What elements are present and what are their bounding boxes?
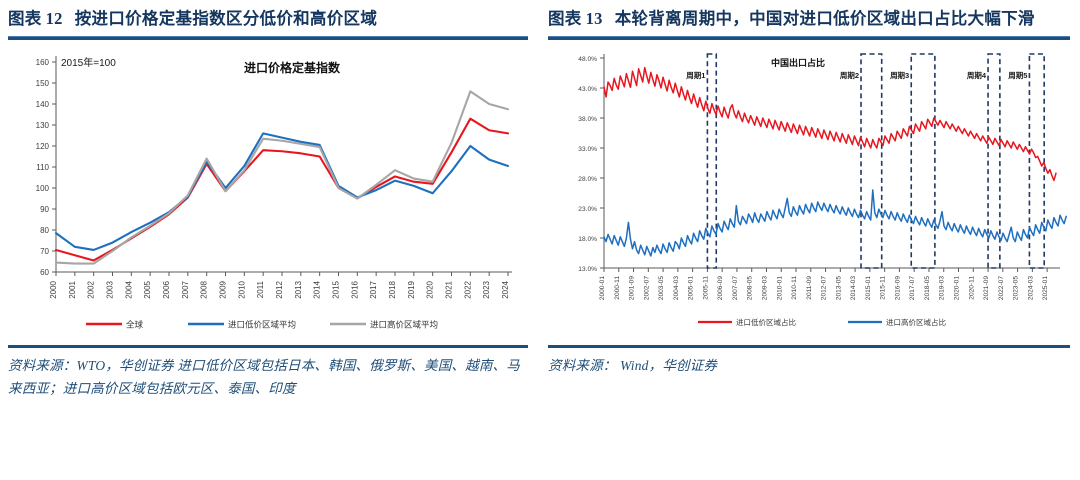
x-axis-tick-label: 2010-11: [791, 276, 798, 300]
x-axis-tick-label: 2022: [463, 280, 472, 298]
figure-13-label: 图表: [548, 9, 582, 28]
x-axis-tick-label: 2014: [313, 280, 322, 298]
y-axis-tick-label: 150: [36, 79, 50, 88]
cycle-band-3: [911, 54, 935, 268]
figure-12-label: 图表: [8, 9, 42, 28]
y-axis-tick-label: 43.0%: [578, 86, 597, 93]
x-axis-tick-label: 2008: [200, 280, 209, 298]
x-axis-tick-label: 2016: [350, 280, 359, 298]
y-axis-tick-label: 120: [36, 142, 50, 151]
y-axis-tick-label: 48.0%: [578, 56, 597, 63]
y-axis-tick-label: 140: [36, 100, 50, 109]
x-axis-tick-label: 2019: [407, 280, 416, 298]
x-axis-tick-label: 2009-03: [761, 276, 768, 301]
figure-13-source-note: 资料来源： Wind，华创证券: [548, 348, 1070, 377]
x-axis-tick-label: 2020-01: [954, 276, 961, 301]
x-axis-tick-label: 2015-01: [865, 276, 872, 301]
figure-panel-13: 图表13本轮背离周期中，中国对进口低价区域出口占比大幅下滑 13.0%18.0%…: [540, 0, 1080, 480]
cycle-label-4: 周期4: [967, 70, 987, 80]
x-axis-tick-label: 2020: [426, 280, 435, 298]
x-axis-tick-label: 2013: [294, 280, 303, 298]
y-axis-tick-label: 100: [36, 184, 50, 193]
x-axis-tick-label: 2024-03: [1027, 276, 1034, 301]
x-axis-tick-label: 2021-09: [983, 276, 990, 301]
x-axis-tick-label: 2009: [219, 280, 228, 298]
x-axis-tick-label: 2017: [369, 280, 378, 298]
x-axis-tick-label: 2025-01: [1042, 276, 1049, 301]
series-line-2: [56, 91, 508, 263]
cycle-label-3: 周期3: [890, 70, 909, 80]
x-axis-tick-label: 2018: [388, 280, 397, 298]
x-axis-tick-label: 2017-07: [909, 276, 916, 301]
cycle-band-5: [1029, 54, 1044, 268]
legend-label-0: 进口低价区域占比: [736, 317, 796, 327]
figure-12-heading: 图表12按进口价格定基指数区分低价和高价区域: [8, 0, 528, 31]
figure-12-number: 12: [46, 9, 63, 28]
x-axis-tick-label: 2006: [162, 280, 171, 298]
x-axis-tick-label: 2015: [332, 280, 341, 298]
y-axis-tick-label: 90: [40, 205, 49, 214]
x-axis-tick-label: 2006-09: [717, 276, 724, 301]
x-axis-tick-label: 2012: [275, 280, 284, 298]
cycle-label-2: 周期2: [840, 70, 859, 80]
series-line-1: [604, 190, 1066, 256]
x-axis-tick-label: 2015-11: [880, 276, 887, 300]
legend-label-1: 进口高价区域占比: [886, 317, 946, 327]
x-axis-tick-label: 2010-01: [776, 276, 783, 301]
x-axis-tick-label: 2023-05: [1013, 276, 1020, 301]
x-axis-tick-label: 2010: [237, 280, 246, 298]
x-axis-tick-label: 2005: [143, 280, 152, 298]
cycle-label-5: 周期5: [1008, 70, 1027, 80]
import-price-index-svg: 607080901001101201301401501602015年=100进口…: [8, 40, 528, 345]
legend-label-0: 全球: [126, 320, 144, 330]
x-axis-tick-label: 2016-09: [894, 276, 901, 301]
x-axis-tick-label: 2020-11: [968, 276, 975, 300]
base-year-note: 2015年=100: [61, 56, 116, 69]
x-axis-tick-label: 2013-05: [835, 276, 842, 301]
x-axis-tick-label: 2002-07: [643, 276, 650, 301]
figure-13-heading: 图表13本轮背离周期中，中国对进口低价区域出口占比大幅下滑: [548, 0, 1070, 31]
x-axis-tick-label: 2024: [501, 280, 510, 298]
x-axis-tick-label: 2004: [124, 280, 133, 298]
x-axis-tick-label: 2008-05: [747, 276, 754, 301]
x-axis-tick-label: 2000: [49, 280, 58, 298]
x-axis-tick-label: 2001: [68, 280, 77, 298]
cycle-band-2: [861, 54, 882, 268]
x-axis-tick-label: 2005-01: [688, 276, 695, 301]
x-axis-tick-label: 2004-03: [673, 276, 680, 301]
legend-label-1: 进口低价区域平均: [228, 320, 296, 330]
figure-12-source-note: 资料来源：WTO，华创证券 进口低价区域包括日本、韩国、俄罗斯、美国、越南、马来…: [8, 348, 528, 400]
x-axis-tick-label: 2021: [445, 280, 454, 298]
x-axis-tick-label: 2019-03: [939, 276, 946, 301]
chart-china-export-share: 13.0%18.0%23.0%28.0%33.0%38.0%43.0%48.0%…: [548, 40, 1070, 345]
y-axis-tick-label: 23.0%: [578, 206, 597, 213]
figure-12-title: 按进口价格定基指数区分低价和高价区域: [75, 9, 377, 28]
y-axis-tick-label: 38.0%: [578, 116, 597, 123]
y-axis-tick-label: 110: [36, 163, 49, 172]
x-axis-tick-label: 2012-07: [821, 276, 828, 301]
y-axis-tick-label: 80: [40, 226, 49, 235]
y-axis-tick-label: 28.0%: [578, 176, 597, 183]
x-axis-tick-label: 2011-09: [806, 276, 813, 300]
report-page: 图表12按进口价格定基指数区分低价和高价区域 60708090100110120…: [0, 0, 1080, 480]
x-axis-tick-label: 2007: [181, 280, 190, 298]
legend-label-2: 进口高价区域平均: [370, 320, 438, 330]
figure-panel-12: 图表12按进口价格定基指数区分低价和高价区域 60708090100110120…: [0, 0, 540, 480]
y-axis-tick-label: 13.0%: [578, 266, 597, 273]
x-axis-tick-label: 2022-07: [998, 276, 1005, 301]
x-axis-tick-label: 2000-11: [614, 276, 621, 300]
x-axis-tick-label: 2014-03: [850, 276, 857, 301]
y-axis-tick-label: 33.0%: [578, 146, 597, 153]
x-axis-tick-label: 2007-07: [732, 276, 739, 301]
chart-import-price-index: 607080901001101201301401501602015年=100进口…: [8, 40, 528, 345]
y-axis-tick-label: 60: [40, 268, 49, 277]
x-axis-tick-label: 2005-11: [702, 276, 709, 300]
x-axis-tick-label: 2018-05: [924, 276, 931, 301]
chart-title-label: 进口价格定基指数: [244, 60, 341, 75]
y-axis-tick-label: 18.0%: [578, 236, 597, 243]
china-export-share-svg: 13.0%18.0%23.0%28.0%33.0%38.0%43.0%48.0%…: [548, 40, 1068, 345]
figure-13-number: 13: [586, 9, 603, 28]
x-axis-tick-label: 2003: [106, 280, 115, 298]
x-axis-tick-label: 2002: [87, 280, 96, 298]
x-axis-tick-label: 2011: [256, 280, 265, 298]
y-axis-tick-label: 160: [36, 58, 50, 67]
chart-title-label: 中国出口占比: [771, 57, 825, 68]
y-axis-tick-label: 130: [36, 121, 50, 130]
figure-13-title: 本轮背离周期中，中国对进口低价区域出口占比大幅下滑: [615, 9, 1035, 28]
x-axis-tick-label: 2003-05: [658, 276, 665, 301]
x-axis-tick-label: 2001-09: [629, 276, 636, 301]
cycle-label-1: 周期1: [686, 70, 705, 80]
y-axis-tick-label: 70: [40, 247, 49, 256]
x-axis-tick-label: 2023: [482, 280, 491, 298]
x-axis-tick-label: 2000-01: [599, 276, 606, 301]
